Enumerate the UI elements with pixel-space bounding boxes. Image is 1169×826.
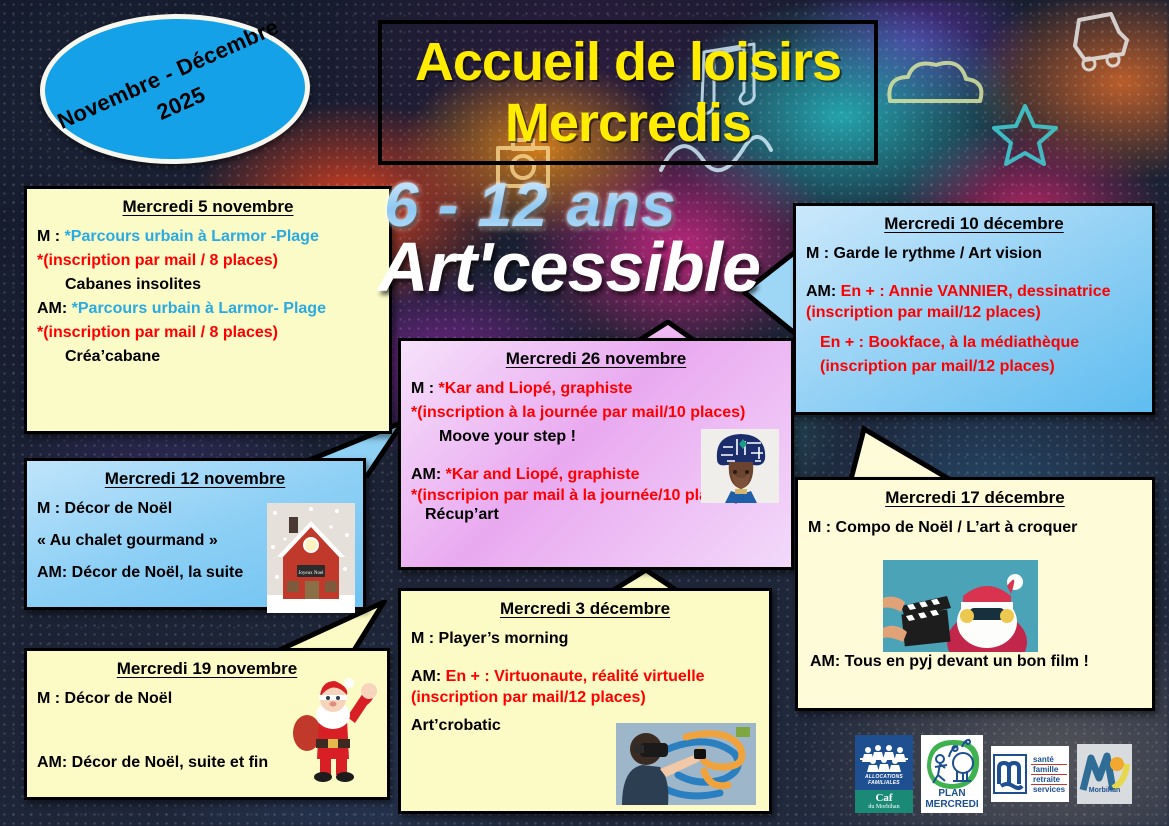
card-mercredi-17-decembre: Mercredi 17 décembre M : Compo de Noël /…: [795, 477, 1155, 711]
card-line: AM: En + : Annie VANNIER, dessinatrice: [806, 280, 1142, 304]
title-line-2: Mercredis: [505, 93, 751, 153]
card-title: Mercredi 5 novembre: [37, 197, 379, 217]
msa-line3: retraite: [1031, 775, 1067, 785]
card-spacer: [806, 266, 1142, 280]
cloud-doodle-icon: [880, 55, 990, 115]
partner-logos: ALLOCATIONS FAMILIALES Caf du Morbihan: [855, 735, 1132, 813]
card-line: (inscription par mail/12 places): [806, 355, 1142, 379]
card-line: AM: Tous en pyj devant un bon film !: [810, 650, 1089, 674]
card-spacer: [411, 651, 759, 665]
logo-plan-mercredi: PLAN MERCREDI: [921, 735, 983, 813]
card-title: Mercredi 12 novembre: [37, 469, 353, 489]
msa-line1: santé: [1031, 755, 1067, 765]
plan-mercredi-line2: MERCREDI: [925, 800, 978, 811]
pere-noel-illustration: [289, 673, 377, 785]
plan-mercredi-icon: [921, 737, 983, 793]
card-mercredi-10-decembre: Mercredi 10 décembre M : Garde le rythme…: [793, 203, 1155, 415]
poster-root: Novembre - Décembre 2025 Accueil de lois…: [0, 0, 1169, 826]
cinema-pere-noel: [883, 560, 1038, 652]
card-title: Mercredi 17 décembre: [808, 488, 1142, 508]
card-line: M : Garde le rythme / Art vision: [806, 242, 1142, 266]
msa-line2: famille: [1031, 765, 1067, 775]
logo-msa: santé famille retraite services: [991, 746, 1069, 802]
card-line: Cabanes insolites: [37, 273, 379, 297]
chalet-noel-illustration: Joyeux Noel: [267, 503, 355, 613]
card-title: Mercredi 10 décembre: [806, 214, 1142, 234]
card-line: M : Player’s morning: [411, 627, 759, 651]
card-line: AM: En + : Virtuonaute, réalité virtuell…: [411, 665, 759, 689]
caf-line2: FAMILIALES: [868, 780, 900, 786]
card-mercredi-26-novembre: Mercredi 26 novembre M : *Kar and Liopé,…: [398, 338, 794, 570]
plan-mercredi-line1: PLAN: [938, 789, 965, 800]
card-mercredi-12-novembre: Mercredi 12 novembre M : Décor de Noël «…: [24, 458, 366, 610]
card-line: *(inscription par mail / 8 places): [37, 321, 379, 345]
card-mercredi-3-decembre: Mercredi 3 décembre M : Player’s morning…: [398, 588, 772, 814]
caf-line3: Caf: [855, 792, 913, 804]
logo-caf: ALLOCATIONS FAMILIALES Caf du Morbihan: [855, 735, 913, 813]
logo-morbihan: Morbihan: [1077, 744, 1132, 804]
portrait-graphiste: [701, 429, 779, 503]
card-line: En + : Bookface, à la médiathèque: [806, 331, 1142, 355]
svg-text:Joyeux Noel: Joyeux Noel: [298, 571, 324, 576]
skate-doodle-icon: [1065, 10, 1140, 75]
star-doodle-icon: [990, 100, 1060, 170]
card-line: M : *Kar and Liopé, graphiste: [411, 377, 781, 401]
poster-title: Accueil de loisirs Mercredis: [378, 20, 878, 165]
card-line: *(inscription par mail / 8 places): [37, 249, 379, 273]
card-line: AM: *Parcours urbain à Larmor- Plage: [37, 297, 379, 321]
card-title: Mercredi 26 novembre: [411, 349, 781, 369]
card-title: Mercredi 3 décembre: [411, 599, 759, 619]
msa-mark-icon: [993, 754, 1027, 794]
caf-line4: du Morbihan: [855, 804, 913, 810]
photo-realite-virtuelle: [616, 723, 756, 805]
morbihan-mark-icon: [1077, 744, 1132, 804]
card-line: (inscription par mail/12 places): [411, 689, 759, 708]
card-line: Récup’art: [411, 506, 781, 525]
card-line: *(inscription à la journée par mail/10 p…: [411, 401, 781, 425]
title-line-1: Accueil de loisirs: [415, 32, 841, 92]
card-mercredi-5-novembre: Mercredi 5 novembre M : *Parcours urbain…: [24, 186, 392, 434]
morbihan-label: Morbihan: [1077, 787, 1132, 794]
card-line: Créa’cabane: [37, 345, 379, 369]
caf-family-icon: [860, 744, 908, 774]
card-line: (inscription par mail/12 places): [806, 304, 1142, 323]
msa-line4: services: [1031, 785, 1067, 794]
card-line: M : *Parcours urbain à Larmor -Plage: [37, 225, 379, 249]
card-line: M : Compo de Noël / L’art à croquer: [808, 516, 1142, 540]
card-mercredi-19-novembre: Mercredi 19 novembre M : Décor de Noël A…: [24, 648, 390, 800]
